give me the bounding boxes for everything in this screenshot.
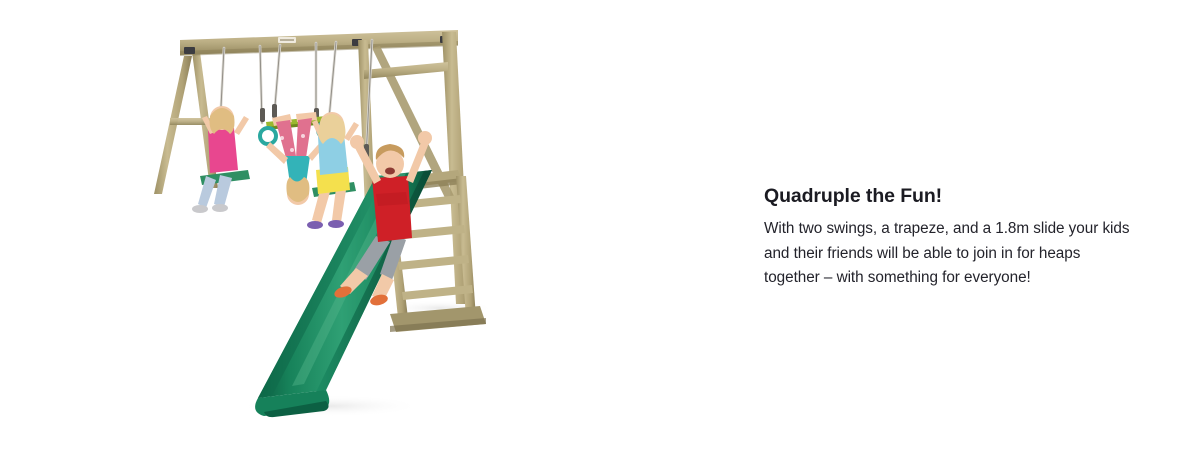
page-title: Quadruple the Fun! [764, 184, 1136, 208]
product-feature-section: Quadruple the Fun! With two swings, a tr… [0, 0, 1200, 449]
feature-copy-block: Quadruple the Fun! With two swings, a tr… [764, 184, 1136, 291]
child-red-on-slide [333, 131, 432, 307]
playset-illustration [140, 18, 510, 418]
child-blue-on-swing [307, 112, 359, 229]
trapeze-ring-left [260, 128, 276, 144]
feature-description: With two swings, a trapeze, and a 1.8m s… [764, 217, 1136, 291]
product-image [140, 18, 510, 418]
top-beam [180, 30, 458, 56]
